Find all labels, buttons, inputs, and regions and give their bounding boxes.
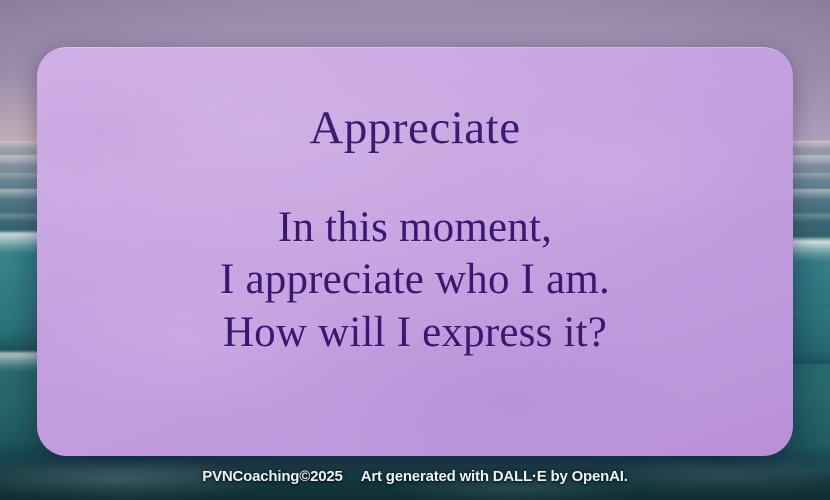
affirmation-card-image: Appreciate In this moment, I appreciate … (0, 0, 830, 500)
card-title: Appreciate (309, 105, 520, 152)
affirmation-line-2: I appreciate who I am. (220, 254, 610, 306)
affirmation-line-1: In this moment, (220, 202, 610, 254)
affirmation-card: Appreciate In this moment, I appreciate … (37, 47, 793, 456)
affirmation-text: In this moment, I appreciate who I am. H… (220, 202, 610, 359)
affirmation-line-3: How will I express it? (220, 307, 610, 359)
